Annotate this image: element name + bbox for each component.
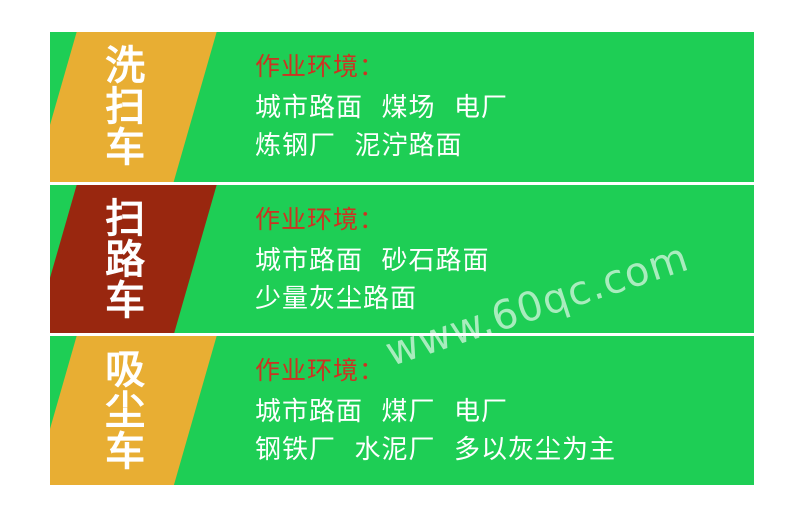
environment-line: 城市路面 煤场 电厂 <box>255 92 754 126</box>
environment-line: 少量灰尘路面 <box>255 283 754 317</box>
section-heading: 作业环境： <box>255 204 754 235</box>
category-tab-washing-sweeper-truck[interactable]: 洗 扫 车 <box>50 32 217 183</box>
section-heading: 作业环境： <box>255 355 754 386</box>
section-heading: 作业环境： <box>255 51 754 82</box>
poster-canvas: 洗 扫 车 作业环境： 城市路面 煤场 电厂 炼钢厂 泥泞路面 扫 路 车 <box>0 0 800 517</box>
table-row: 扫 路 车 作业环境： 城市路面 砂石路面 少量灰尘路面 <box>50 185 754 336</box>
tab-char: 车 <box>105 281 145 322</box>
comparison-poster: 洗 扫 车 作业环境： 城市路面 煤场 电厂 炼钢厂 泥泞路面 扫 路 车 <box>50 32 754 485</box>
row-content: 作业环境： 城市路面 煤场 电厂 炼钢厂 泥泞路面 <box>255 32 754 183</box>
category-tab-label: 吸 尘 车 <box>105 350 145 472</box>
table-row: 洗 扫 车 作业环境： 城市路面 煤场 电厂 炼钢厂 泥泞路面 <box>50 32 754 183</box>
environment-line: 炼钢厂 泥泞路面 <box>255 130 754 164</box>
tab-char: 车 <box>105 432 145 473</box>
tab-char: 路 <box>105 240 145 281</box>
tab-char: 扫 <box>105 87 145 128</box>
category-tab-label: 洗 扫 车 <box>105 46 145 168</box>
row-content: 作业环境： 城市路面 煤厂 电厂 钢铁厂 水泥厂 多以灰尘为主 <box>255 336 754 485</box>
tab-char: 吸 <box>105 350 145 391</box>
tab-char: 车 <box>105 128 145 169</box>
tab-char: 洗 <box>105 46 145 87</box>
tab-char: 扫 <box>105 199 145 240</box>
row-content: 作业环境： 城市路面 砂石路面 少量灰尘路面 <box>255 185 754 336</box>
table-row: 吸 尘 车 作业环境： 城市路面 煤厂 电厂 钢铁厂 水泥厂 多以灰尘为主 <box>50 336 754 485</box>
tab-char: 尘 <box>105 391 145 432</box>
environment-line: 城市路面 煤厂 电厂 <box>255 396 754 430</box>
environment-line: 钢铁厂 水泥厂 多以灰尘为主 <box>255 434 754 468</box>
environment-line: 城市路面 砂石路面 <box>255 245 754 279</box>
category-tab-vacuum-dust-truck[interactable]: 吸 尘 车 <box>50 336 217 485</box>
category-tab-road-sweeper-truck[interactable]: 扫 路 车 <box>50 185 217 336</box>
category-tab-label: 扫 路 车 <box>105 199 145 321</box>
